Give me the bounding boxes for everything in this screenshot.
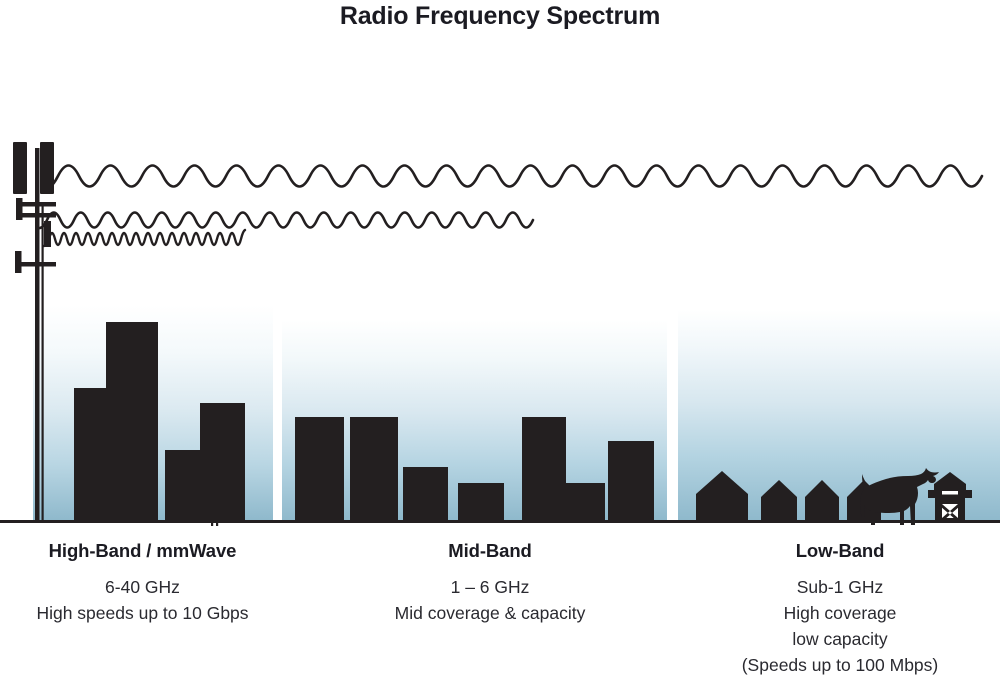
midband-building-5 xyxy=(522,417,566,521)
skyscraper-1 xyxy=(74,388,106,521)
midband-building-4 xyxy=(458,483,504,521)
scene-svg xyxy=(0,120,1000,530)
barn-loft-vent xyxy=(942,491,958,495)
midband-building-3 xyxy=(403,467,448,521)
band-description-low-band-2: (Speeds up to 100 Mbps) xyxy=(690,652,990,678)
band-title-high-band: High-Band / mmWave xyxy=(0,540,285,562)
mid-frequency-wave xyxy=(40,213,533,229)
band-column-mid-band: Mid-Band 1 – 6 GHz Mid coverage & capaci… xyxy=(340,540,640,626)
midband-building-1 xyxy=(295,417,344,521)
band-details-mid-band: 1 – 6 GHz Mid coverage & capacity xyxy=(340,574,640,626)
band-frequency-mid-band: 1 – 6 GHz xyxy=(340,574,640,600)
tower-antenna-panel-right xyxy=(40,142,54,194)
band-frequency-high-band: 6-40 GHz xyxy=(0,574,285,600)
band-column-low-band: Low-Band Sub-1 GHz High coverage low cap… xyxy=(690,540,990,678)
skyscraper-3 xyxy=(165,450,202,521)
band-title-mid-band: Mid-Band xyxy=(340,540,640,562)
band-frequency-low-band: Sub-1 GHz xyxy=(690,574,990,600)
infographic-root: Radio Frequency Spectrum xyxy=(0,0,1000,700)
band-title-low-band: Low-Band xyxy=(690,540,990,562)
band-description-low-band-0: High coverage xyxy=(690,600,990,626)
low-frequency-wave xyxy=(48,166,982,189)
midband-building-6 xyxy=(566,483,605,521)
midband-building-7 xyxy=(608,441,654,521)
band-description-high-band-0: High speeds up to 10 Gbps xyxy=(0,600,285,626)
band-description-low-band-1: low capacity xyxy=(690,626,990,652)
tower-antenna-panel-left xyxy=(13,142,27,194)
band-column-high-band: High-Band / mmWave 6-40 GHz High speeds … xyxy=(0,540,285,626)
radio-waves xyxy=(40,166,982,247)
skyscraper-2 xyxy=(106,322,158,521)
tower-mast-secondary xyxy=(42,206,44,521)
midband-building-2 xyxy=(350,417,398,521)
skyscraper-4 xyxy=(200,403,245,521)
tower-crossbar-lower xyxy=(16,262,56,267)
band-details-high-band: 6-40 GHz High speeds up to 10 Gbps xyxy=(0,574,285,626)
tower-panel-small-lower xyxy=(15,251,22,273)
spectrum-scene xyxy=(0,120,1000,530)
high-frequency-wave xyxy=(44,230,245,246)
page-title: Radio Frequency Spectrum xyxy=(0,2,1000,31)
tower-panel-small-upper xyxy=(16,198,23,220)
band-labels: High-Band / mmWave 6-40 GHz High speeds … xyxy=(0,540,1000,700)
tower-panel-small-mid xyxy=(44,221,51,247)
ground-line xyxy=(0,520,1000,523)
band-description-mid-band-0: Mid coverage & capacity xyxy=(340,600,640,626)
band-details-low-band: Sub-1 GHz High coverage low capacity (Sp… xyxy=(690,574,990,678)
